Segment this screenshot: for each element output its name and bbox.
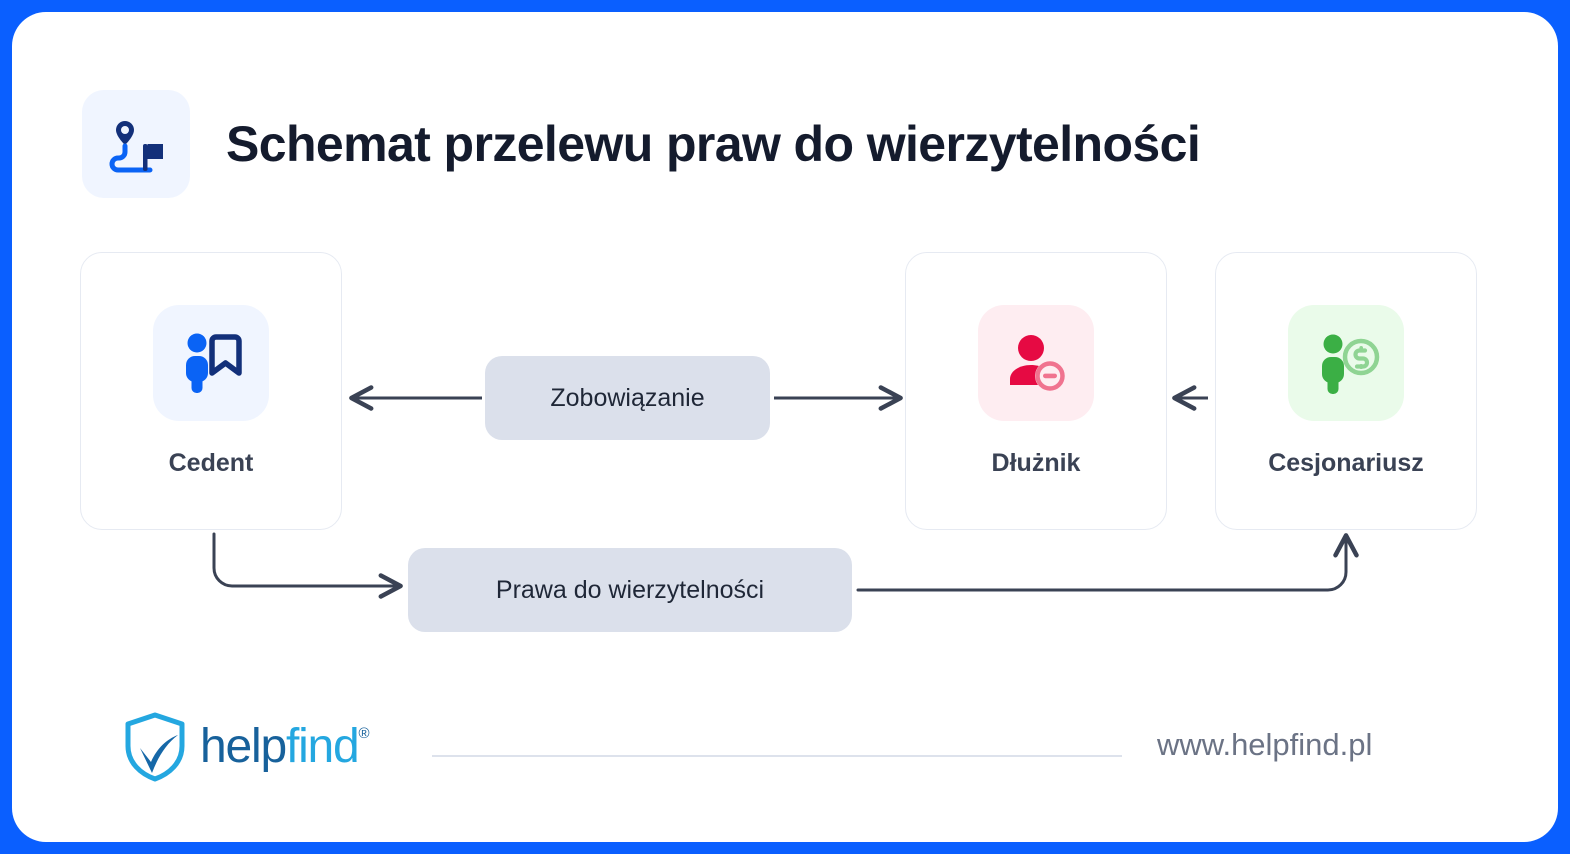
person-bookmark-icon (153, 305, 269, 421)
registered-mark: ® (359, 725, 369, 742)
blue-frame: Schemat przelewu praw do wierzytelności … (0, 0, 1570, 854)
node-label-cesjonariusz: Cesjonariusz (1268, 449, 1424, 478)
edge-label-prawa-text: Prawa do wierzytelności (496, 576, 764, 605)
logo-text-find: find (286, 719, 359, 774)
helpfind-logo[interactable]: help find ® (122, 710, 368, 782)
node-label-dluznik: Dłużnik (992, 449, 1081, 478)
page-canvas: Schemat przelewu praw do wierzytelności … (12, 12, 1558, 842)
node-card-dluznik[interactable]: Dłużnik (905, 252, 1167, 530)
node-card-cedent[interactable]: Cedent (80, 252, 342, 530)
helpfind-wordmark: help find ® (200, 719, 368, 774)
edge-label-prawa-do-wierzytelnosci[interactable]: Prawa do wierzytelności (408, 548, 852, 632)
footer-divider (432, 755, 1122, 757)
page-footer: help find ® www.helpfind.pl (12, 702, 1558, 812)
logo-text-help: help (200, 719, 286, 774)
node-card-cesjonariusz[interactable]: Cesjonariusz (1215, 252, 1477, 530)
node-label-cedent: Cedent (169, 449, 254, 478)
person-dollar-icon (1288, 305, 1404, 421)
footer-url[interactable]: www.helpfind.pl (1157, 727, 1372, 763)
shield-check-icon (122, 710, 188, 782)
edge-label-zobowiazanie-text: Zobowiązanie (550, 384, 704, 413)
person-minus-icon (978, 305, 1094, 421)
edge-label-zobowiazanie[interactable]: Zobowiązanie (485, 356, 770, 440)
